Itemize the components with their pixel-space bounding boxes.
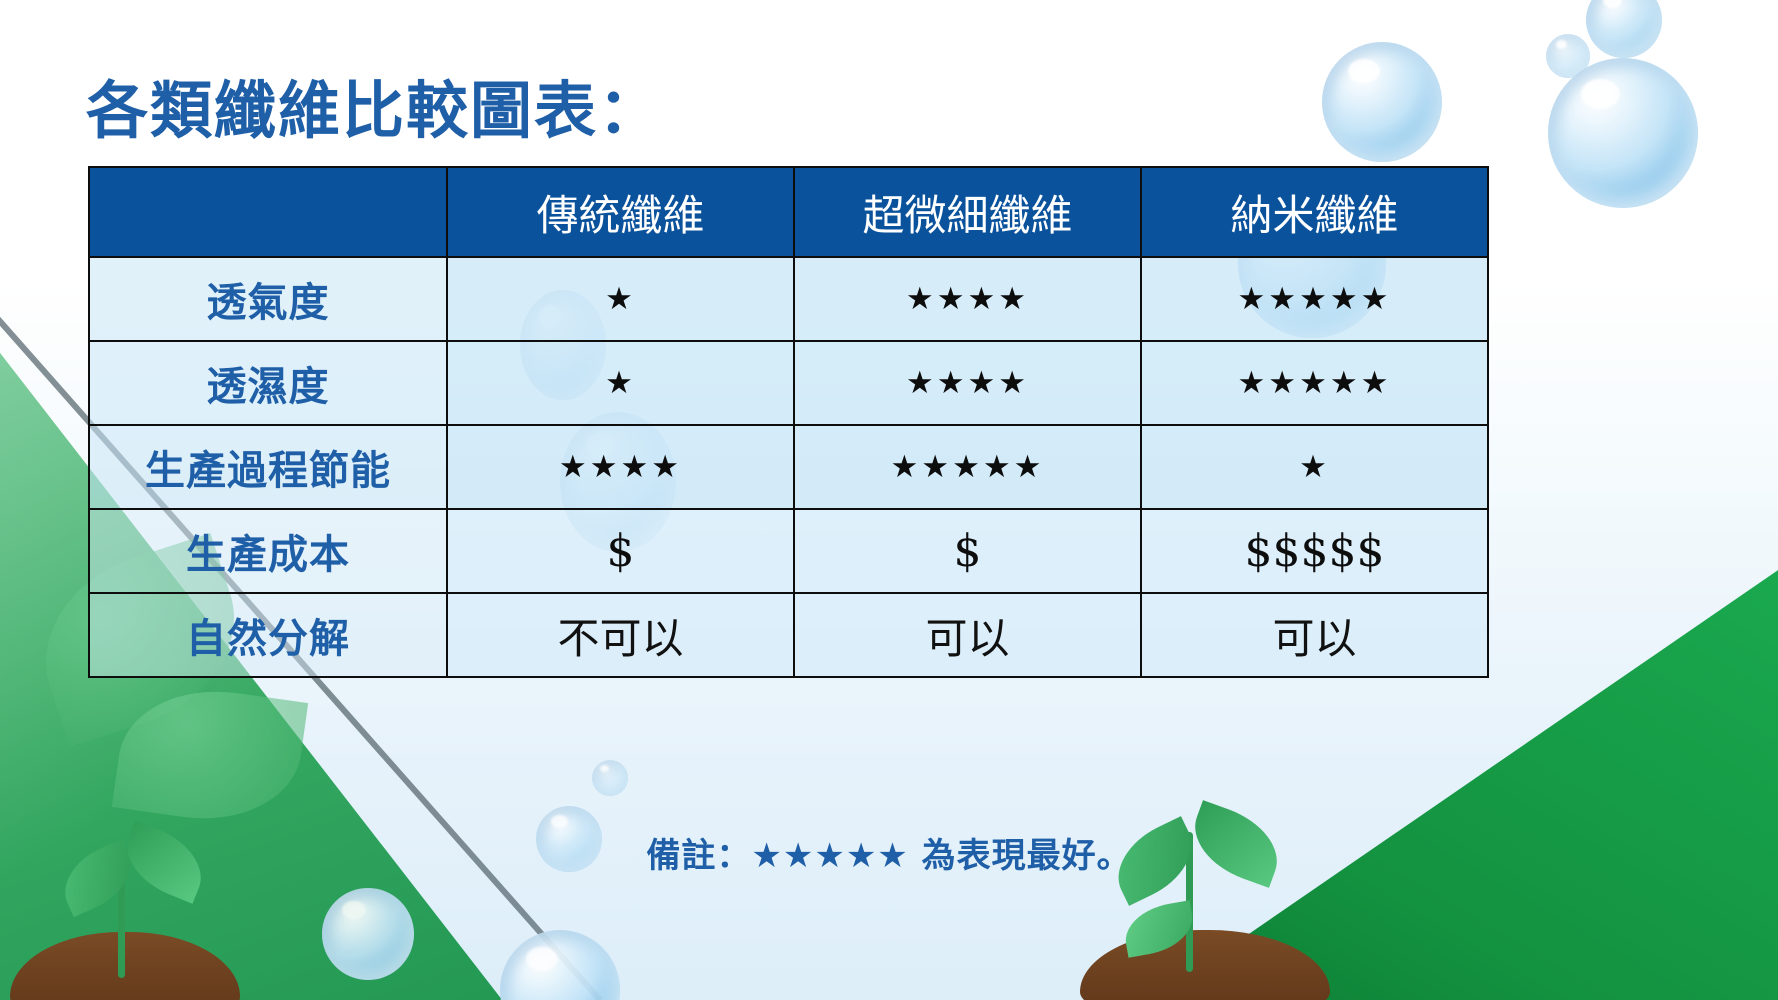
table-row: 生產成本 $ $ $$$$$ [89, 509, 1488, 593]
column-header-nano: 納米纖維 [1141, 167, 1488, 257]
star-rating: ★★★★★ [1238, 281, 1392, 317]
cell-biodegradable-traditional: 不可以 [447, 593, 794, 677]
star-rating: ★ [1299, 449, 1330, 485]
column-header-ultrafine: 超微細纖維 [794, 167, 1141, 257]
cell-energy-traditional: ★★★★ [447, 425, 794, 509]
table-row: 透氣度 ★ ★★★★ ★★★★★ [89, 257, 1488, 341]
table-body: 透氣度 ★ ★★★★ ★★★★★ 透濕度 ★ ★★★★ ★★★★★ 生產過程節能… [89, 257, 1488, 677]
row-label-energy-saving: 生產過程節能 [89, 425, 447, 509]
cost-rating: $ [954, 526, 982, 577]
cell-breathability-ultrafine: ★★★★ [794, 257, 1141, 341]
row-label-breathability: 透氣度 [89, 257, 447, 341]
table-corner-cell [89, 167, 447, 257]
star-rating: ★★★★ [559, 449, 682, 485]
value-text: 可以 [1272, 614, 1356, 663]
row-label-moisture-permeability: 透濕度 [89, 341, 447, 425]
table-row: 生產過程節能 ★★★★ ★★★★★ ★ [89, 425, 1488, 509]
row-label-biodegradable: 自然分解 [89, 593, 447, 677]
cell-energy-ultrafine: ★★★★★ [794, 425, 1141, 509]
table-row: 透濕度 ★ ★★★★ ★★★★★ [89, 341, 1488, 425]
row-label-production-cost: 生產成本 [89, 509, 447, 593]
cell-moisture-nano: ★★★★★ [1141, 341, 1488, 425]
cell-cost-ultrafine: $ [794, 509, 1141, 593]
star-rating: ★★★★ [906, 281, 1029, 317]
cost-rating: $$$$$ [1245, 526, 1385, 577]
table-footnote: 備註：★★★★★ 為表現最好。 [0, 828, 1778, 877]
star-rating: ★★★★★ [1238, 365, 1392, 401]
star-rating: ★ [605, 281, 636, 317]
cell-cost-nano: $$$$$ [1141, 509, 1488, 593]
star-rating: ★★★★★ [891, 449, 1045, 485]
table-row: 自然分解 不可以 可以 可以 [89, 593, 1488, 677]
column-header-traditional: 傳統纖維 [447, 167, 794, 257]
cell-moisture-ultrafine: ★★★★ [794, 341, 1141, 425]
table-header: 傳統纖維 超微細纖維 納米纖維 [89, 167, 1488, 257]
cost-rating: $ [607, 526, 635, 577]
cell-biodegradable-ultrafine: 可以 [794, 593, 1141, 677]
cell-biodegradable-nano: 可以 [1141, 593, 1488, 677]
cell-breathability-traditional: ★ [447, 257, 794, 341]
star-rating: ★★★★ [906, 365, 1029, 401]
cell-energy-nano: ★ [1141, 425, 1488, 509]
star-rating: ★ [605, 365, 636, 401]
fiber-comparison-table: 傳統纖維 超微細纖維 納米纖維 透氣度 ★ ★★★★ ★★★★★ 透濕度 ★ ★… [88, 166, 1489, 678]
value-text: 不可以 [557, 614, 683, 663]
page-title: 各類纖維比較圖表： [86, 60, 662, 150]
cell-moisture-traditional: ★ [447, 341, 794, 425]
cell-breathability-nano: ★★★★★ [1141, 257, 1488, 341]
cell-cost-traditional: $ [447, 509, 794, 593]
value-text: 可以 [925, 614, 1009, 663]
table-header-row: 傳統纖維 超微細纖維 納米纖維 [89, 167, 1488, 257]
